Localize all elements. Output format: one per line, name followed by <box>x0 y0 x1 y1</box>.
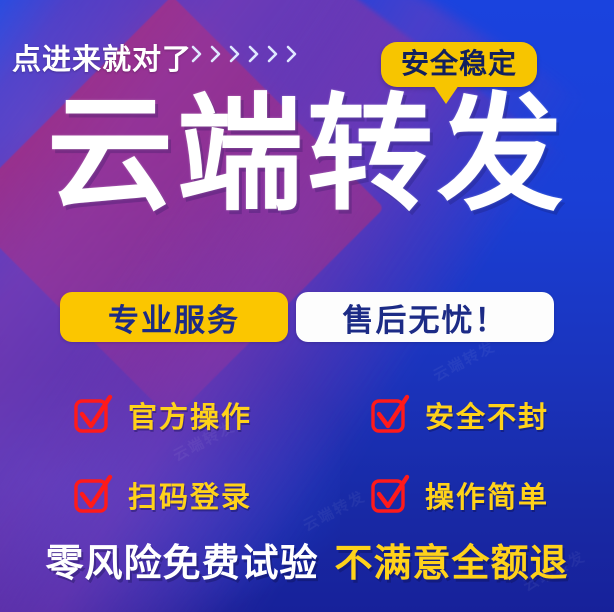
safety-badge-label: 安全稳定 <box>401 49 517 78</box>
feature-label: 安全不封 <box>425 394 549 436</box>
checkbox-checked-icon <box>369 394 411 436</box>
pill-professional-service: 专业服务 <box>60 292 288 342</box>
chevron-arrow-group <box>190 44 298 64</box>
feature-list: 官方操作 安全不封 扫码登录 <box>0 375 614 535</box>
feature-label: 操作简单 <box>425 474 549 516</box>
safety-badge-bubble: 安全稳定 <box>381 42 537 87</box>
guarantee-right-text: 不满意全额退 <box>335 543 569 585</box>
feature-item: 官方操作 <box>0 375 307 455</box>
chevron-right-icon <box>266 44 279 64</box>
feature-item: 扫码登录 <box>0 455 307 535</box>
feature-item: 操作简单 <box>307 455 614 535</box>
page-title: 云端转发 <box>0 92 614 218</box>
guarantee-left-text: 零风险免费试验 <box>45 543 318 585</box>
feature-label: 扫码登录 <box>128 474 252 516</box>
feature-label: 官方操作 <box>128 394 252 436</box>
feature-row: 官方操作 安全不封 <box>0 375 614 455</box>
pill-row: 专业服务 售后无忧！ <box>60 292 554 342</box>
kicker-text: 点进来就对了 <box>12 36 192 78</box>
chevron-right-icon <box>247 44 260 64</box>
checkbox-checked-icon <box>72 394 114 436</box>
chevron-right-icon <box>190 44 203 64</box>
chevron-right-icon <box>285 44 298 64</box>
feature-row: 扫码登录 操作简单 <box>0 455 614 535</box>
pill-after-sales: 售后无忧！ <box>296 292 554 342</box>
chevron-right-icon <box>228 44 241 64</box>
checkbox-checked-icon <box>369 474 411 516</box>
chevron-right-icon <box>209 44 222 64</box>
guarantee-line: 零风险免费试验不满意全额退 <box>0 545 614 583</box>
checkbox-checked-icon <box>72 474 114 516</box>
feature-item: 安全不封 <box>307 375 614 455</box>
promo-poster: 云端转发 云端转发 云端转发 云端转发 点进来就对了 <box>0 0 614 612</box>
